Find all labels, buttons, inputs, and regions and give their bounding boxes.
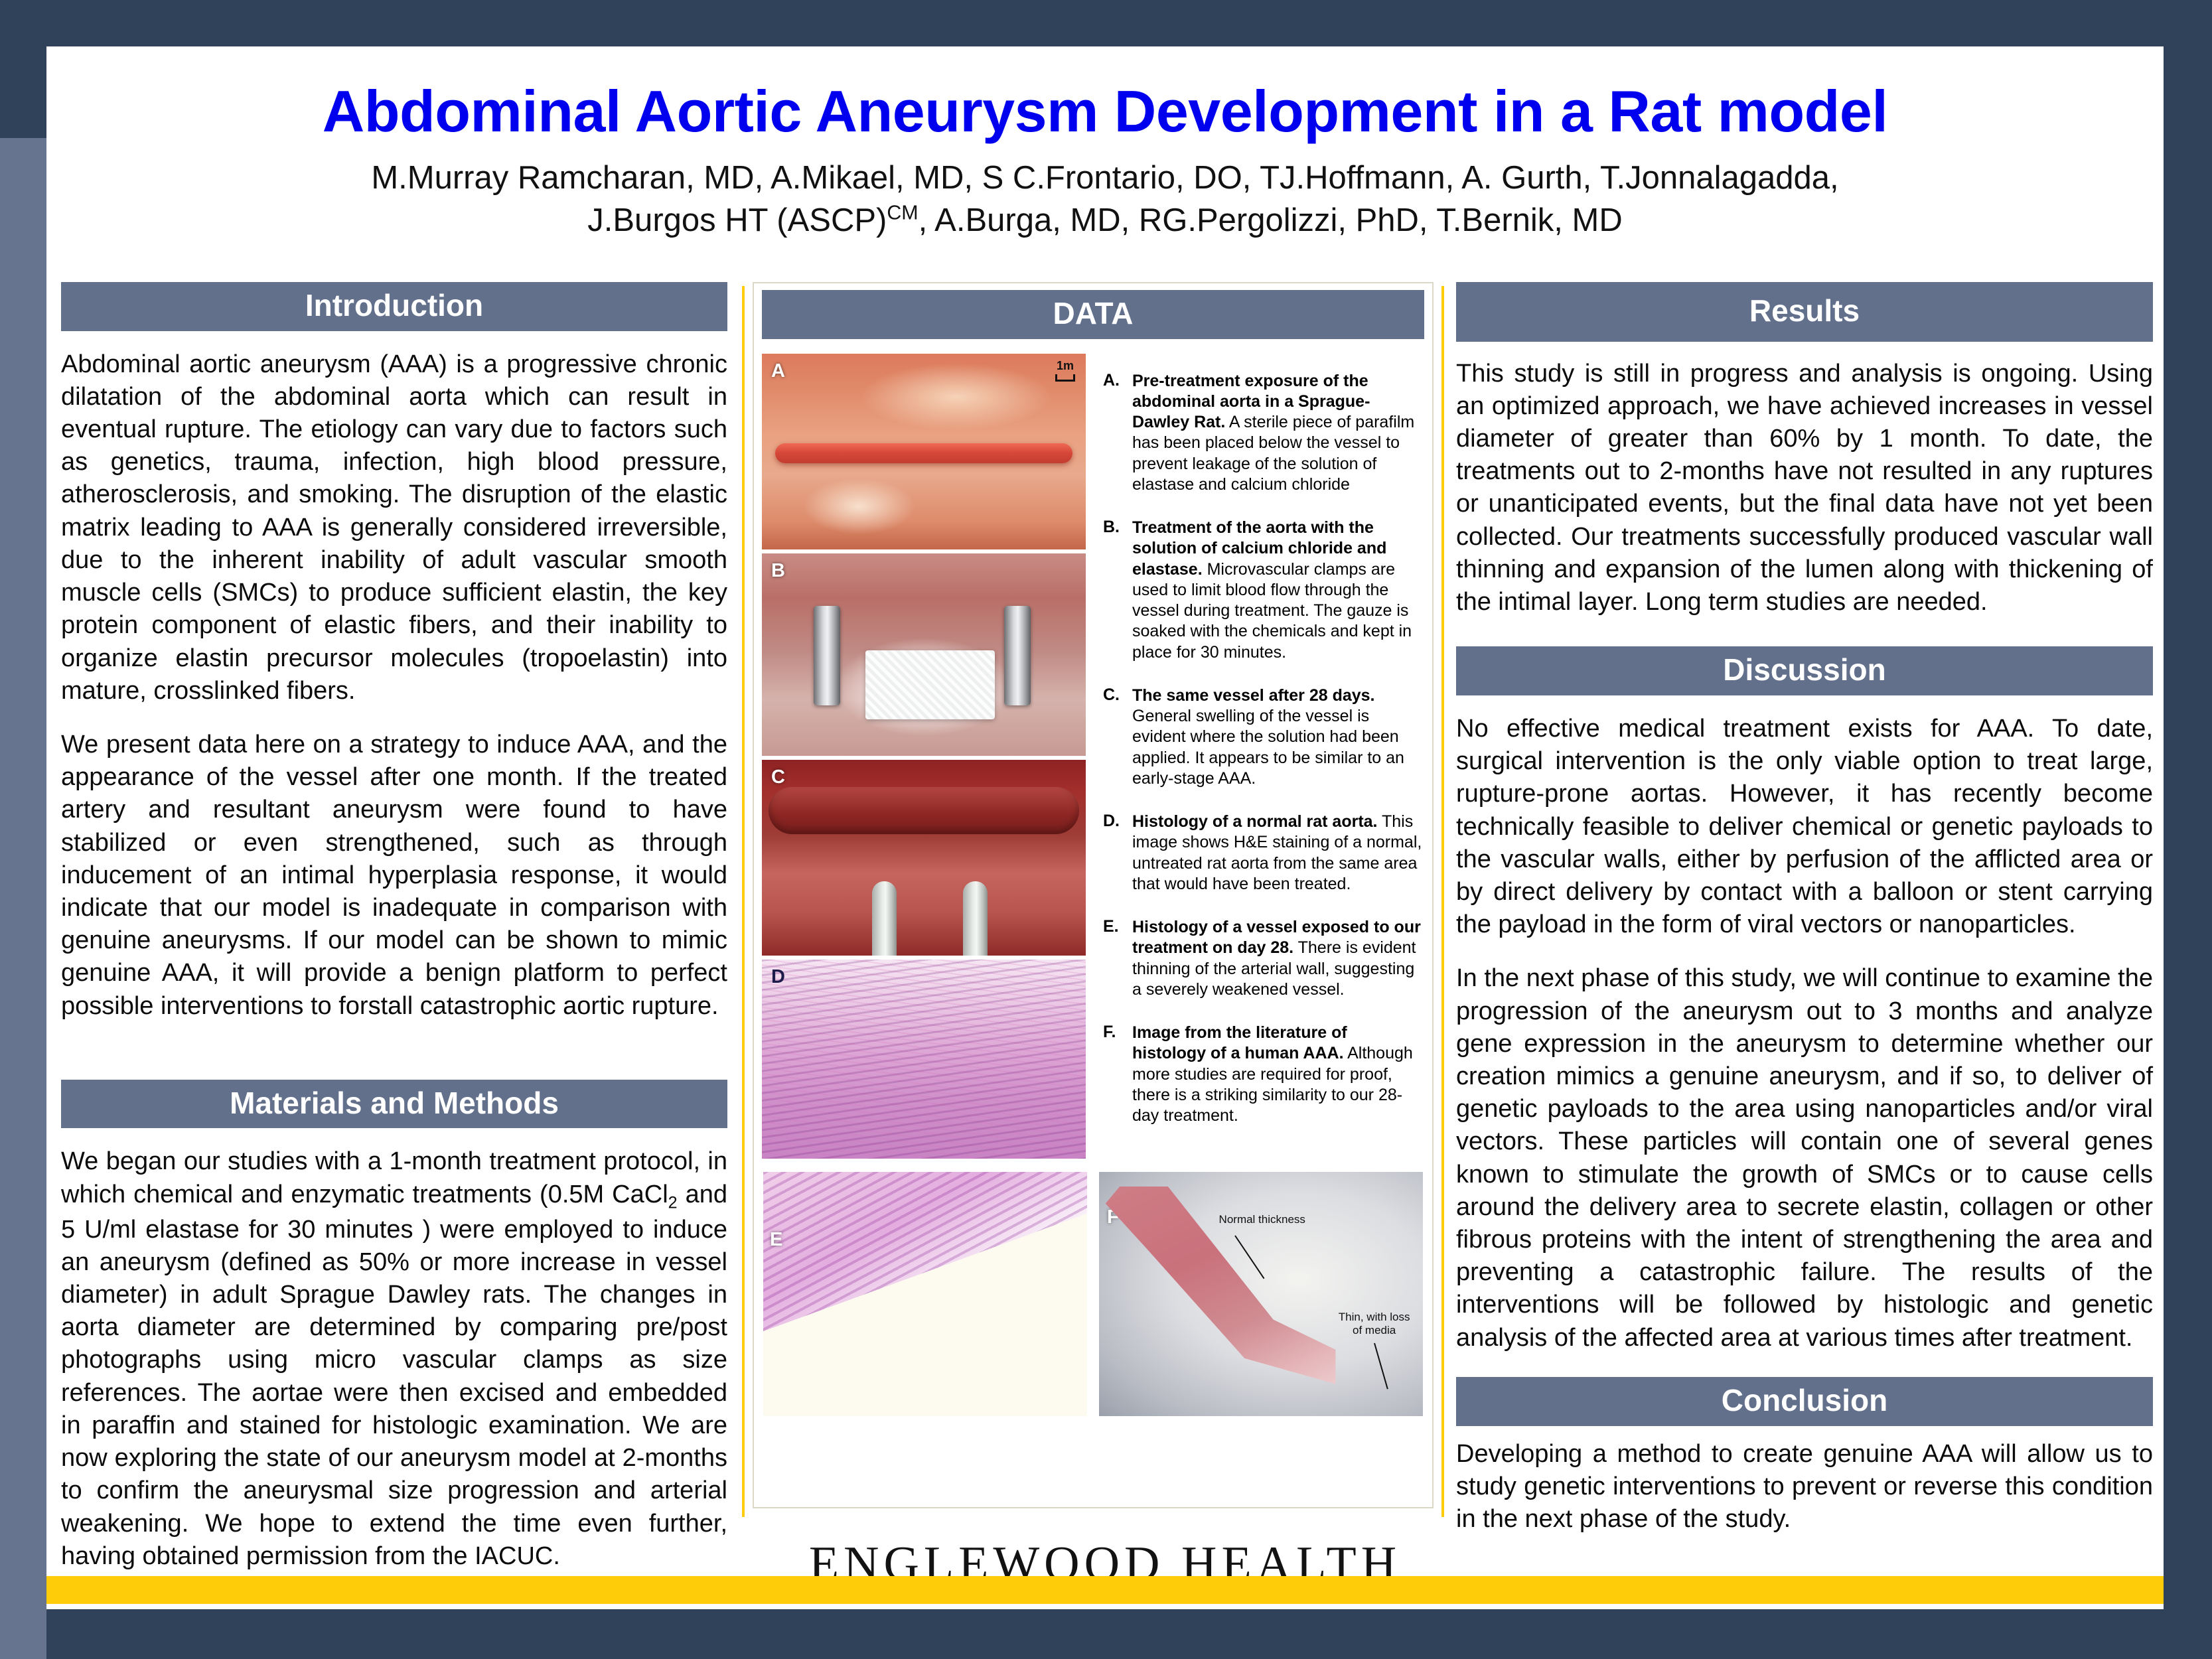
poster-frame: Abdominal Aortic Aneurysm Development in… <box>0 0 2212 1659</box>
poster-columns: Introduction Abdominal aortic aneurysm (… <box>46 282 2164 1530</box>
caption-text-f: Image from the literature of histology o… <box>1132 1023 1424 1126</box>
methods-body: We began our studies with a 1-month trea… <box>61 1145 727 1573</box>
figure-d-normal-histology-photo: D <box>762 960 1086 1159</box>
figure-caption-f: F. Image from the literature of histolog… <box>1103 1023 1424 1126</box>
figure-e-treated-histology-photo: E <box>763 1172 1087 1416</box>
conclusion-body: Developing a method to create genuine AA… <box>1456 1438 2153 1536</box>
data-body: A 1m B <box>754 339 1432 1159</box>
introduction-paragraph-1: Abdominal aortic aneurysm (AAA) is a pro… <box>61 348 727 707</box>
results-body: This study is still in progress and anal… <box>1456 358 2153 619</box>
figure-d-label: D <box>771 966 785 988</box>
caption-text-a: Pre-treatment exposure of the abdominal … <box>1132 371 1424 496</box>
caption-rest-c: General swelling of the vessel is eviden… <box>1132 707 1404 788</box>
st-clamp-right <box>963 881 988 956</box>
caption-bold-f: Image from the literature of histology o… <box>1132 1023 1347 1062</box>
frame-right-accent <box>2164 138 2212 1659</box>
ascp-superscript: CM <box>887 201 918 224</box>
results-paragraph: This study is still in progress and anal… <box>1456 358 2153 619</box>
column-middle: DATA A 1m B <box>745 282 1441 1530</box>
figure-a-aorta-exposure-photo: A 1m <box>762 354 1086 549</box>
figure-e-label: E <box>770 1229 782 1251</box>
authors-line-2-post: , A.Burga, MD, RG.Pergolizzi, PhD, T.Ber… <box>919 202 1623 238</box>
methods-text-part1: We began our studies with a 1-month trea… <box>61 1147 727 1208</box>
methods-text-part2: and 5 U/ml elastase for 30 minutes ) wer… <box>61 1181 727 1570</box>
figure-stack: A 1m B <box>762 354 1086 1159</box>
annotation-thin-loss-of-media: Thin, with loss of media <box>1339 1311 1410 1336</box>
st-clamp-left <box>872 881 897 956</box>
caption-letter-d: D. <box>1103 812 1132 895</box>
methods-paragraph: We began our studies with a 1-month trea… <box>61 1145 727 1573</box>
figure-caption-a: A. Pre-treatment exposure of the abdomin… <box>1103 371 1424 496</box>
figure-bottom-row: E F Normal thickness Thin, with loss of … <box>754 1159 1432 1416</box>
annotation-normal-thickness: Normal thickness <box>1219 1213 1305 1226</box>
figure-a-label: A <box>771 360 785 382</box>
section-header-data: DATA <box>762 290 1424 339</box>
annotation-thin-line2: of media <box>1353 1324 1396 1336</box>
figure-caption-list: A. Pre-treatment exposure of the abdomin… <box>1103 354 1424 1159</box>
section-header-conclusion: Conclusion <box>1456 1377 2153 1426</box>
section-header-discussion: Discussion <box>1456 646 2153 695</box>
poster-canvas: Abdominal Aortic Aneurysm Development in… <box>46 46 2164 1609</box>
introduction-paragraph-2: We present data here on a strategy to in… <box>61 729 727 1023</box>
section-header-results: Results <box>1456 282 2153 342</box>
cacl2-subscript: 2 <box>668 1193 678 1212</box>
caption-text-d: Histology of a normal rat aorta. This im… <box>1132 812 1424 895</box>
discussion-body: No effective medical treatment exists fo… <box>1456 713 2153 1354</box>
figure-c-label: C <box>771 766 785 788</box>
author-list: M.Murray Ramcharan, MD, A.Mikael, MD, S … <box>46 157 2164 242</box>
footer-accent-bar <box>46 1576 2164 1604</box>
caption-letter-f: F. <box>1103 1023 1132 1126</box>
figure-b-treatment-photo: B <box>762 553 1086 756</box>
caption-letter-b: B. <box>1103 518 1132 663</box>
caption-letter-c: C. <box>1103 685 1132 789</box>
arrow-thin-media-icon <box>1374 1343 1388 1390</box>
title-block: Abdominal Aortic Aneurysm Development in… <box>46 80 2164 242</box>
figure-caption-c: C. The same vessel after 28 days. Genera… <box>1103 685 1424 789</box>
column-right: Results This study is still in progress … <box>1444 282 2162 1530</box>
microvascular-clamp-right <box>1004 606 1031 705</box>
section-header-methods: Materials and Methods <box>61 1080 727 1129</box>
figure-caption-d: D. Histology of a normal rat aorta. This… <box>1103 812 1424 895</box>
figure-caption-e: E. Histology of a vessel exposed to our … <box>1103 917 1424 1000</box>
figure-caption-b: B. Treatment of the aorta with the solut… <box>1103 518 1424 663</box>
scale-bar-text: 1m <box>1057 359 1074 372</box>
annotation-thin-line1: Thin, with loss <box>1339 1311 1410 1323</box>
conclusion-paragraph: Developing a method to create genuine AA… <box>1456 1438 2153 1536</box>
scale-bar-shape <box>1055 374 1075 382</box>
figure-f-human-aaa-histology-photo: F Normal thickness Thin, with loss of me… <box>1099 1172 1423 1416</box>
caption-bold-d: Histology of a normal rat aorta. <box>1132 812 1378 831</box>
figure-c-vessel-day28-photo: C <box>762 760 1086 956</box>
introduction-body: Abdominal aortic aneurysm (AAA) is a pro… <box>61 348 727 1023</box>
discussion-paragraph-1: No effective medical treatment exists fo… <box>1456 713 2153 941</box>
arrow-normal-thickness-icon <box>1234 1236 1264 1279</box>
frame-left-accent <box>0 138 46 1659</box>
microvascular-clamp-left <box>814 606 840 705</box>
gauze-pad <box>865 650 995 719</box>
authors-line-2-pre: J.Burgos HT (ASCP) <box>587 202 887 238</box>
caption-text-b: Treatment of the aorta with the solution… <box>1132 518 1424 663</box>
data-panel: DATA A 1m B <box>753 282 1434 1508</box>
caption-bold-c: The same vessel after 28 days. <box>1132 686 1375 705</box>
scale-bar-icon: 1m <box>1055 359 1075 382</box>
figure-b-label: B <box>771 560 785 582</box>
authors-line-1: M.Murray Ramcharan, MD, A.Mikael, MD, S … <box>371 160 1838 196</box>
caption-letter-e: E. <box>1103 917 1132 1000</box>
caption-text-c: The same vessel after 28 days. General s… <box>1132 685 1424 789</box>
page-title: Abdominal Aortic Aneurysm Development in… <box>46 80 2164 143</box>
section-header-introduction: Introduction <box>61 282 727 331</box>
caption-text-e: Histology of a vessel exposed to our tre… <box>1132 917 1424 1000</box>
discussion-paragraph-2: In the next phase of this study, we will… <box>1456 962 2153 1354</box>
caption-letter-a: A. <box>1103 371 1132 496</box>
column-left: Introduction Abdominal aortic aneurysm (… <box>46 282 742 1530</box>
